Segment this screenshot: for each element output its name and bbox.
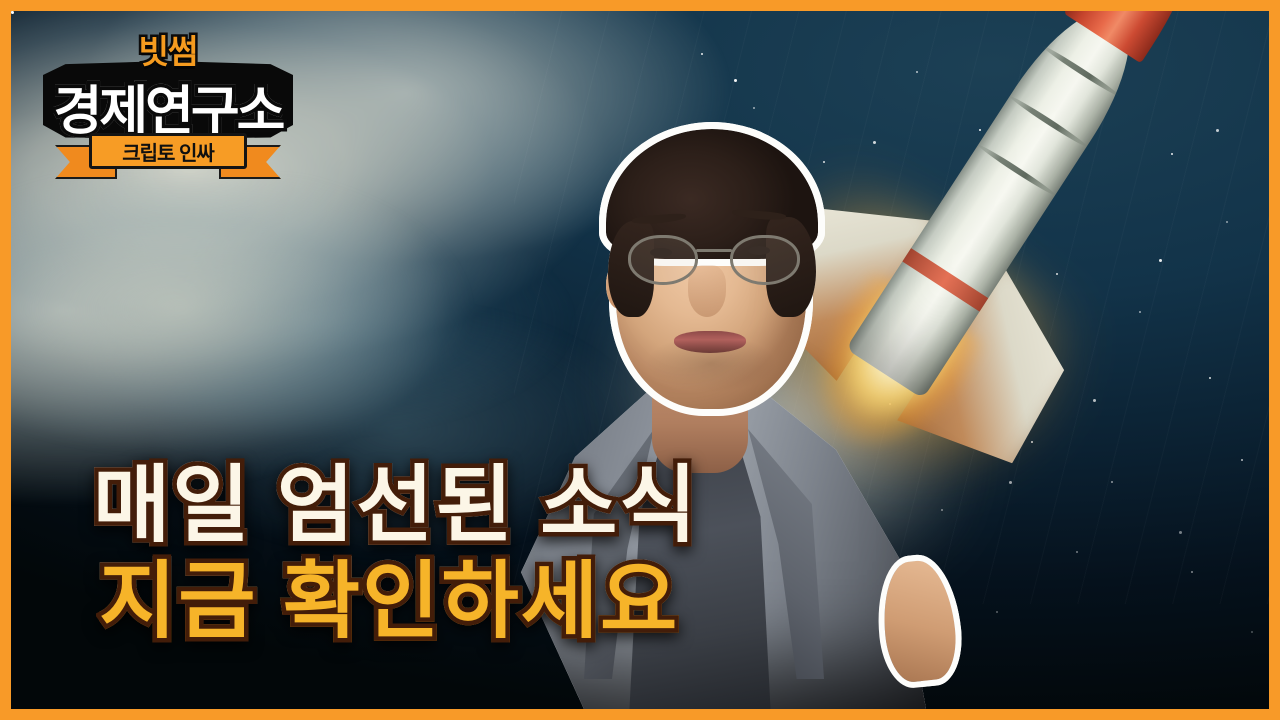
headline-line-2: 지금 확인하세요 bbox=[99, 556, 811, 647]
glasses-lens-right bbox=[730, 235, 800, 285]
headline-line-1: 매일 엄선된 소식 bbox=[93, 460, 811, 551]
video-thumbnail: 빗썸 경제연구소 크립토 인싸 매일 엄선된 소식 지금 확인하세요 bbox=[0, 0, 1280, 720]
presenter-jaw-shadow bbox=[636, 337, 786, 403]
presenter-nose bbox=[688, 265, 726, 317]
thumbnail-stage: 빗썸 경제연구소 크립토 인싸 매일 엄선된 소식 지금 확인하세요 bbox=[11, 11, 1269, 709]
channel-logo[interactable]: 빗썸 경제연구소 크립토 인싸 bbox=[43, 21, 293, 181]
ribbon-center-band: 크립토 인싸 bbox=[89, 133, 247, 169]
logo-brand-text: 빗썸 bbox=[139, 25, 198, 73]
glasses-lens-left bbox=[628, 235, 698, 285]
headline-block: 매일 엄선된 소식 지금 확인하세요 bbox=[71, 460, 811, 647]
logo-ribbon: 크립토 인싸 bbox=[55, 133, 281, 179]
ribbon-label: 크립토 인싸 bbox=[122, 137, 214, 166]
glasses-bridge bbox=[696, 249, 732, 252]
